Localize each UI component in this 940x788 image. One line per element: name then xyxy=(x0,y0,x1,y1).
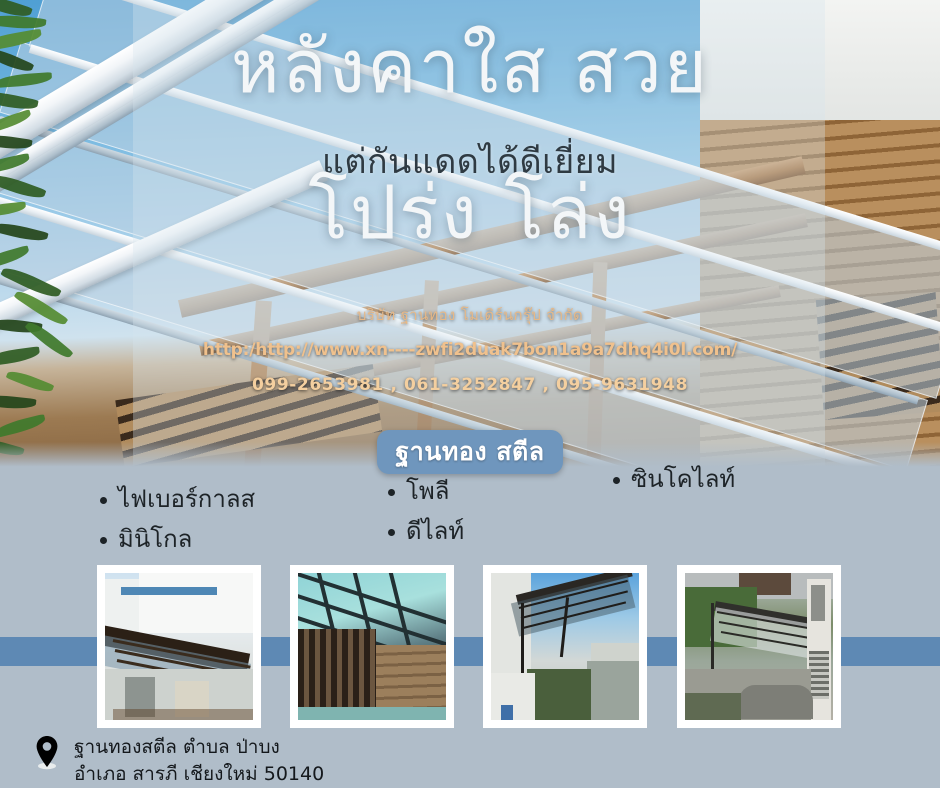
feature-label: มินิโกล xyxy=(118,524,192,554)
list-item: ซินโคไลท์ xyxy=(613,464,735,494)
bullet-icon xyxy=(388,489,395,496)
poster-root: หลังคาใส สวย แต่กันแดดได้ดีเยี่ยม โปร่ง … xyxy=(0,0,940,788)
bullet-icon xyxy=(100,537,107,544)
company-name: บริษัท ฐานทอง โมเดิร์นกรุ๊ป จำกัด xyxy=(0,303,940,327)
thumbnail-1[interactable] xyxy=(97,565,261,728)
footer: ฐานทองสตีล ตำบล ป่าบง อำเภอ สารภี เชียงใ… xyxy=(0,730,940,788)
thumbnail-image-3 xyxy=(491,573,639,720)
address-lines: ฐานทองสตีล ตำบล ป่าบง อำเภอ สารภี เชียงใ… xyxy=(74,734,324,788)
address-line-1: ฐานทองสตีล ตำบล ป่าบง xyxy=(74,736,280,758)
bullet-icon xyxy=(100,497,107,504)
list-item: มินิโกล xyxy=(100,524,255,554)
headline-secondary: โปร่ง โล่ง xyxy=(0,176,940,250)
list-item: ไฟเบอร์กาลส xyxy=(100,484,255,514)
thumbnail-image-2 xyxy=(298,573,446,720)
website-url[interactable]: http:/http://www.xn----zwfi2duak7bon1a9a… xyxy=(0,340,940,360)
feature-list: ไฟเบอร์กาลส มินิโกล โพลี ดีไลท์ ซินโคไลท… xyxy=(0,476,940,560)
headline-block: หลังคาใส สวย xyxy=(0,30,940,104)
thumbnail-3[interactable] xyxy=(483,565,647,728)
bullet-icon xyxy=(388,529,395,536)
feature-column-3: ซินโคไลท์ xyxy=(613,464,735,504)
gallery-thumbnails xyxy=(0,565,940,730)
headline-primary: หลังคาใส สวย xyxy=(0,30,940,104)
address-block: ฐานทองสตีล ตำบล ป่าบง อำเภอ สารภี เชียงใ… xyxy=(34,734,324,788)
thumbnail-image-4 xyxy=(685,573,833,720)
list-item: โพลี xyxy=(388,476,464,506)
thumbnail-4[interactable] xyxy=(677,565,841,728)
feature-column-2: โพลี ดีไลท์ xyxy=(388,476,464,556)
bullet-icon xyxy=(613,477,620,484)
address-line-2: อำเภอ สารภี เชียงใหม่ 50140 xyxy=(74,763,324,785)
thumbnail-2[interactable] xyxy=(290,565,454,728)
list-item: ดีไลท์ xyxy=(388,516,464,546)
thumbnail-image-1 xyxy=(105,573,253,720)
feature-label: ดีไลท์ xyxy=(406,516,464,546)
brand-badge[interactable]: ฐานทอง สตีล xyxy=(377,430,563,474)
feature-label: โพลี xyxy=(406,476,449,506)
feature-label: ไฟเบอร์กาลส xyxy=(118,484,255,514)
contact-overlay: บริษัท ฐานทอง โมเดิร์นกรุ๊ป จำกัด http:/… xyxy=(0,303,940,395)
feature-column-1: ไฟเบอร์กาลส มินิโกล xyxy=(100,484,255,564)
phone-numbers[interactable]: 099-2653981 , 061-3252847 , 095-9631948 xyxy=(0,375,940,395)
location-pin-icon xyxy=(34,734,60,770)
feature-label: ซินโคไลท์ xyxy=(631,464,735,494)
brand-badge-label: ฐานทอง สตีล xyxy=(395,432,544,472)
